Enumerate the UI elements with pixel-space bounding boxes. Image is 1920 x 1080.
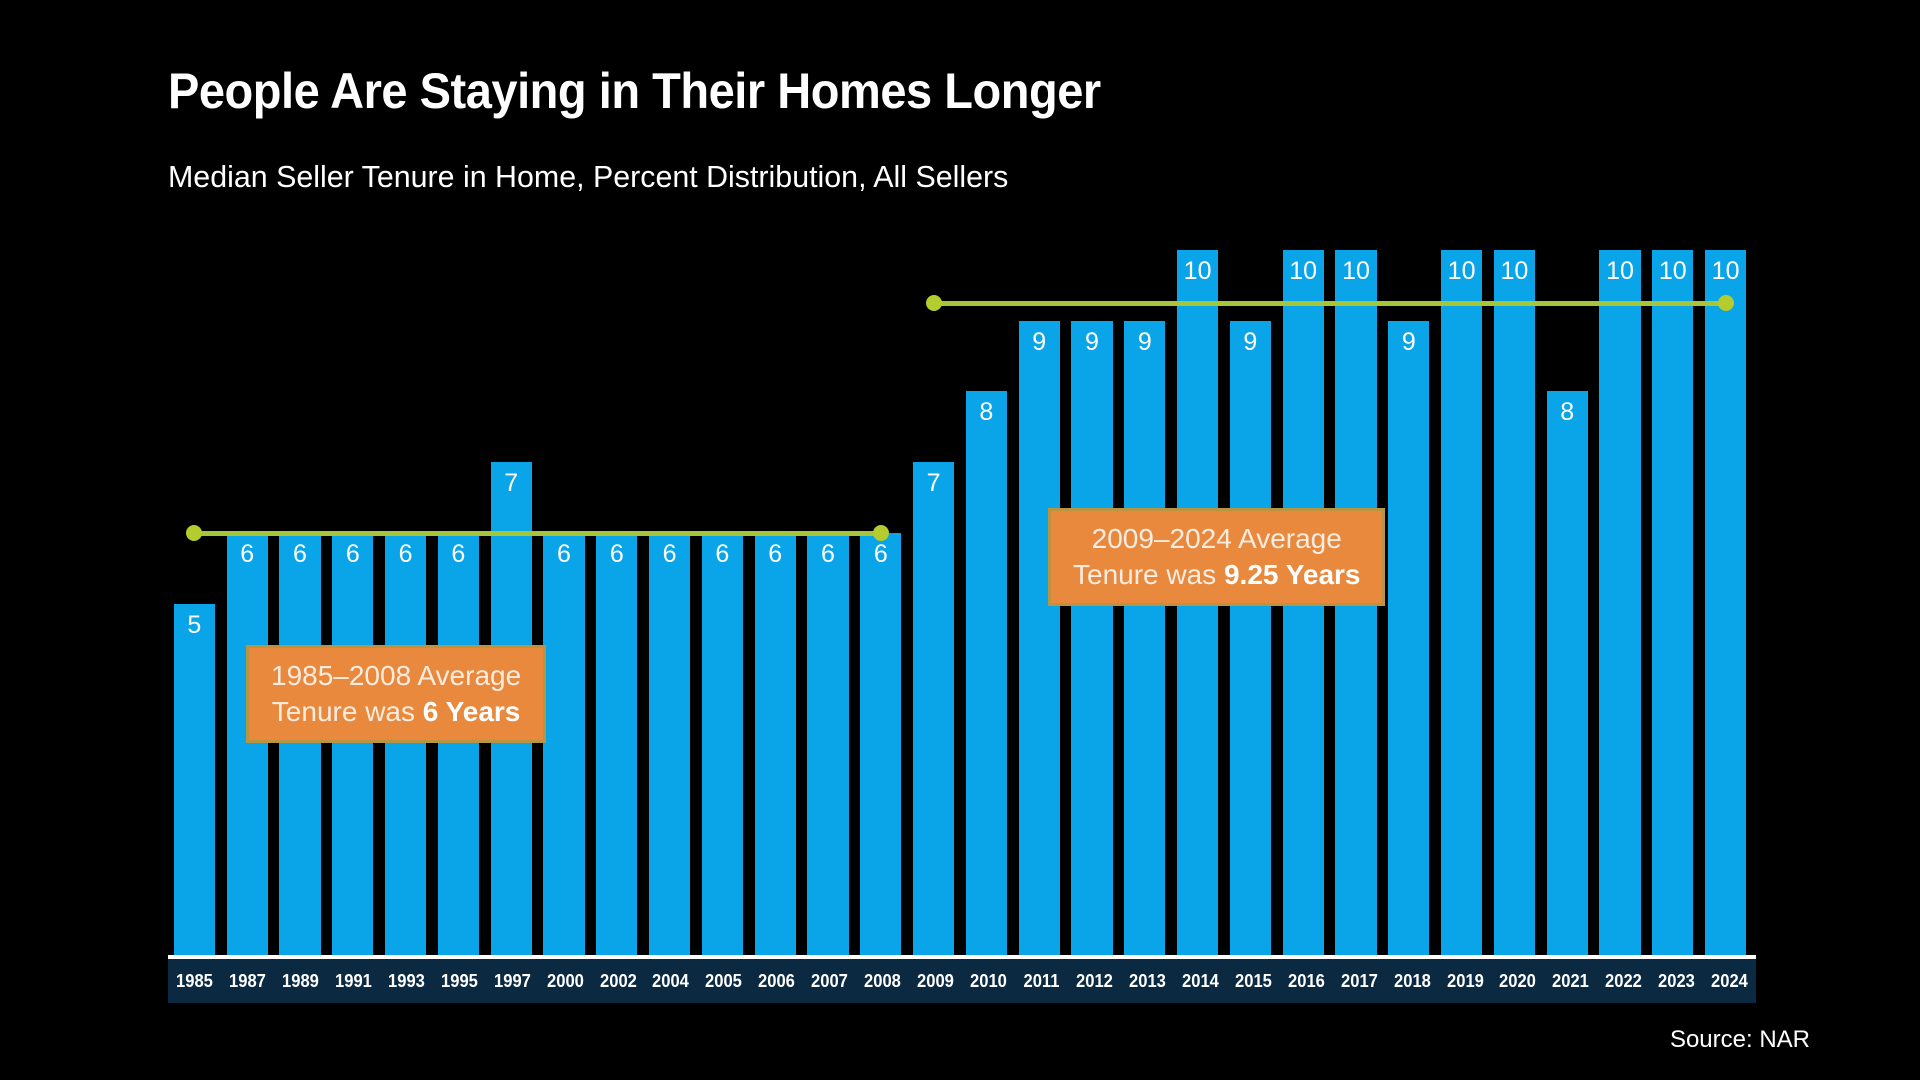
bar-value-label: 6 [543,540,584,568]
bar-2002: 6 [596,250,637,957]
bar-value-label: 6 [596,540,637,568]
x-tick-2016: 2016 [1282,959,1331,1003]
average-line-0-endpoint-end [873,525,889,541]
bar-value-label: 6 [332,540,373,568]
bar-rect: 6 [702,533,743,957]
late-period-callout-line-2: Tenure was 9.25 Years [1073,557,1360,593]
bar-2010: 8 [966,250,1007,957]
bar-rect: 6 [596,533,637,957]
bar-2021: 8 [1547,250,1588,957]
bar-rect: 6 [279,533,320,957]
bar-rect: 6 [807,533,848,957]
bar-rect: 10 [1441,250,1482,957]
x-tick-2006: 2006 [752,959,801,1003]
x-tick-2023: 2023 [1652,959,1701,1003]
x-tick-2009: 2009 [911,959,960,1003]
bar-rect: 5 [174,604,215,958]
bar-rect: 6 [755,533,796,957]
bar-value-label: 10 [1177,257,1218,285]
x-tick-2021: 2021 [1546,959,1595,1003]
x-tick-2020: 2020 [1494,959,1543,1003]
bar-value-label: 10 [1599,257,1640,285]
x-tick-2004: 2004 [647,959,696,1003]
early-period-callout: 1985–2008 AverageTenure was 6 Years [246,645,546,743]
bar-value-label: 9 [1230,328,1271,356]
late-period-callout: 2009–2024 AverageTenure was 9.25 Years [1048,508,1385,606]
bar-value-label: 6 [860,540,901,568]
bar-rect: 6 [860,533,901,957]
bar-2007: 6 [807,250,848,957]
bar-1991: 6 [332,250,373,957]
bar-2019: 10 [1441,250,1482,957]
bar-rect: 8 [966,391,1007,957]
bar-value-label: 6 [755,540,796,568]
bar-rect: 9 [1019,321,1060,957]
bar-1995: 6 [438,250,479,957]
x-tick-2018: 2018 [1388,959,1437,1003]
bar-value-label: 10 [1441,257,1482,285]
x-tick-1989: 1989 [276,959,325,1003]
bar-value-label: 6 [227,540,268,568]
x-tick-2013: 2013 [1123,959,1172,1003]
x-tick-2008: 2008 [858,959,907,1003]
late-period-callout-value: 9.25 Years [1224,559,1361,590]
x-tick-1995: 1995 [435,959,484,1003]
early-period-callout-line-1: 1985–2008 Average [271,658,521,694]
bar-value-label: 9 [1124,328,1165,356]
bar-2000: 6 [543,250,584,957]
x-tick-1997: 1997 [488,959,537,1003]
x-tick-1987: 1987 [223,959,272,1003]
x-tick-1993: 1993 [382,959,431,1003]
bar-2024: 10 [1705,250,1746,957]
bar-2004: 6 [649,250,690,957]
bar-2023: 10 [1652,250,1693,957]
bar-value-label: 9 [1019,328,1060,356]
average-line-1-endpoint-start [926,295,942,311]
bar-value-label: 7 [913,469,954,497]
bar-rect: 9 [1388,321,1429,957]
bar-1985: 5 [174,250,215,957]
bar-2018: 9 [1388,250,1429,957]
x-tick-2010: 2010 [964,959,1013,1003]
bar-value-label: 10 [1283,257,1324,285]
bar-rect: 6 [332,533,373,957]
x-tick-1991: 1991 [329,959,378,1003]
bar-2020: 10 [1494,250,1535,957]
chart-canvas: People Are Staying in Their Homes Longer… [0,0,1920,1080]
bar-rect: 9 [1230,321,1271,957]
bar-value-label: 8 [1547,398,1588,426]
bar-value-label: 6 [807,540,848,568]
average-line-0 [194,531,880,536]
late-period-callout-line-2-prefix: Tenure was [1073,559,1224,590]
bar-2009: 7 [913,250,954,957]
bar-rect: 10 [1652,250,1693,957]
x-tick-2002: 2002 [594,959,643,1003]
source-note: Source: NAR [1670,1026,1810,1054]
x-tick-2007: 2007 [805,959,854,1003]
bar-value-label: 6 [279,540,320,568]
x-tick-2011: 2011 [1017,959,1066,1003]
bar-rect: 7 [913,462,954,957]
bar-value-label: 7 [491,469,532,497]
bar-2008: 6 [860,250,901,957]
x-axis-labels: 1985198719891991199319951997200020022004… [168,959,1756,1003]
bar-value-label: 8 [966,398,1007,426]
bar-rect: 10 [1705,250,1746,957]
x-tick-2005: 2005 [699,959,748,1003]
x-tick-2019: 2019 [1441,959,1490,1003]
bar-1989: 6 [279,250,320,957]
x-tick-2017: 2017 [1335,959,1384,1003]
bar-value-label: 6 [649,540,690,568]
bar-2022: 10 [1599,250,1640,957]
x-tick-2022: 2022 [1599,959,1648,1003]
bar-1987: 6 [227,250,268,957]
bar-2006: 6 [755,250,796,957]
bar-value-label: 10 [1335,257,1376,285]
bar-rect: 9 [1124,321,1165,957]
bar-value-label: 6 [438,540,479,568]
page-title: People Are Staying in Their Homes Longer [168,62,1101,120]
bar-rect: 8 [1547,391,1588,957]
bar-value-label: 6 [702,540,743,568]
bar-rect: 10 [1599,250,1640,957]
bar-value-label: 6 [385,540,426,568]
x-tick-2012: 2012 [1070,959,1119,1003]
late-period-callout-line-1: 2009–2024 Average [1073,521,1360,557]
average-line-1-endpoint-end [1718,295,1734,311]
plot-area: 5666667666666678999109101091010810101019… [168,250,1752,957]
bar-1997: 7 [491,250,532,957]
x-tick-2000: 2000 [541,959,590,1003]
bar-rect: 6 [227,533,268,957]
bar-1993: 6 [385,250,426,957]
bar-value-label: 10 [1652,257,1693,285]
bar-2005: 6 [702,250,743,957]
x-tick-1985: 1985 [170,959,219,1003]
bar-rect: 9 [1071,321,1112,957]
x-tick-2014: 2014 [1176,959,1225,1003]
page-subtitle: Median Seller Tenure in Home, Percent Di… [168,158,1008,196]
bar-rect: 6 [438,533,479,957]
early-period-callout-value: 6 Years [423,696,521,727]
x-tick-2024: 2024 [1705,959,1754,1003]
bar-value-label: 5 [174,611,215,639]
bar-rect: 6 [385,533,426,957]
bar-rect: 6 [543,533,584,957]
bar-rect: 6 [649,533,690,957]
bar-value-label: 10 [1494,257,1535,285]
early-period-callout-line-2: Tenure was 6 Years [271,694,521,730]
bar-value-label: 10 [1705,257,1746,285]
bar-rect: 10 [1494,250,1535,957]
early-period-callout-line-2-prefix: Tenure was [272,696,423,727]
bar-value-label: 9 [1071,328,1112,356]
bar-value-label: 9 [1388,328,1429,356]
x-tick-2015: 2015 [1229,959,1278,1003]
average-line-1 [934,301,1726,306]
